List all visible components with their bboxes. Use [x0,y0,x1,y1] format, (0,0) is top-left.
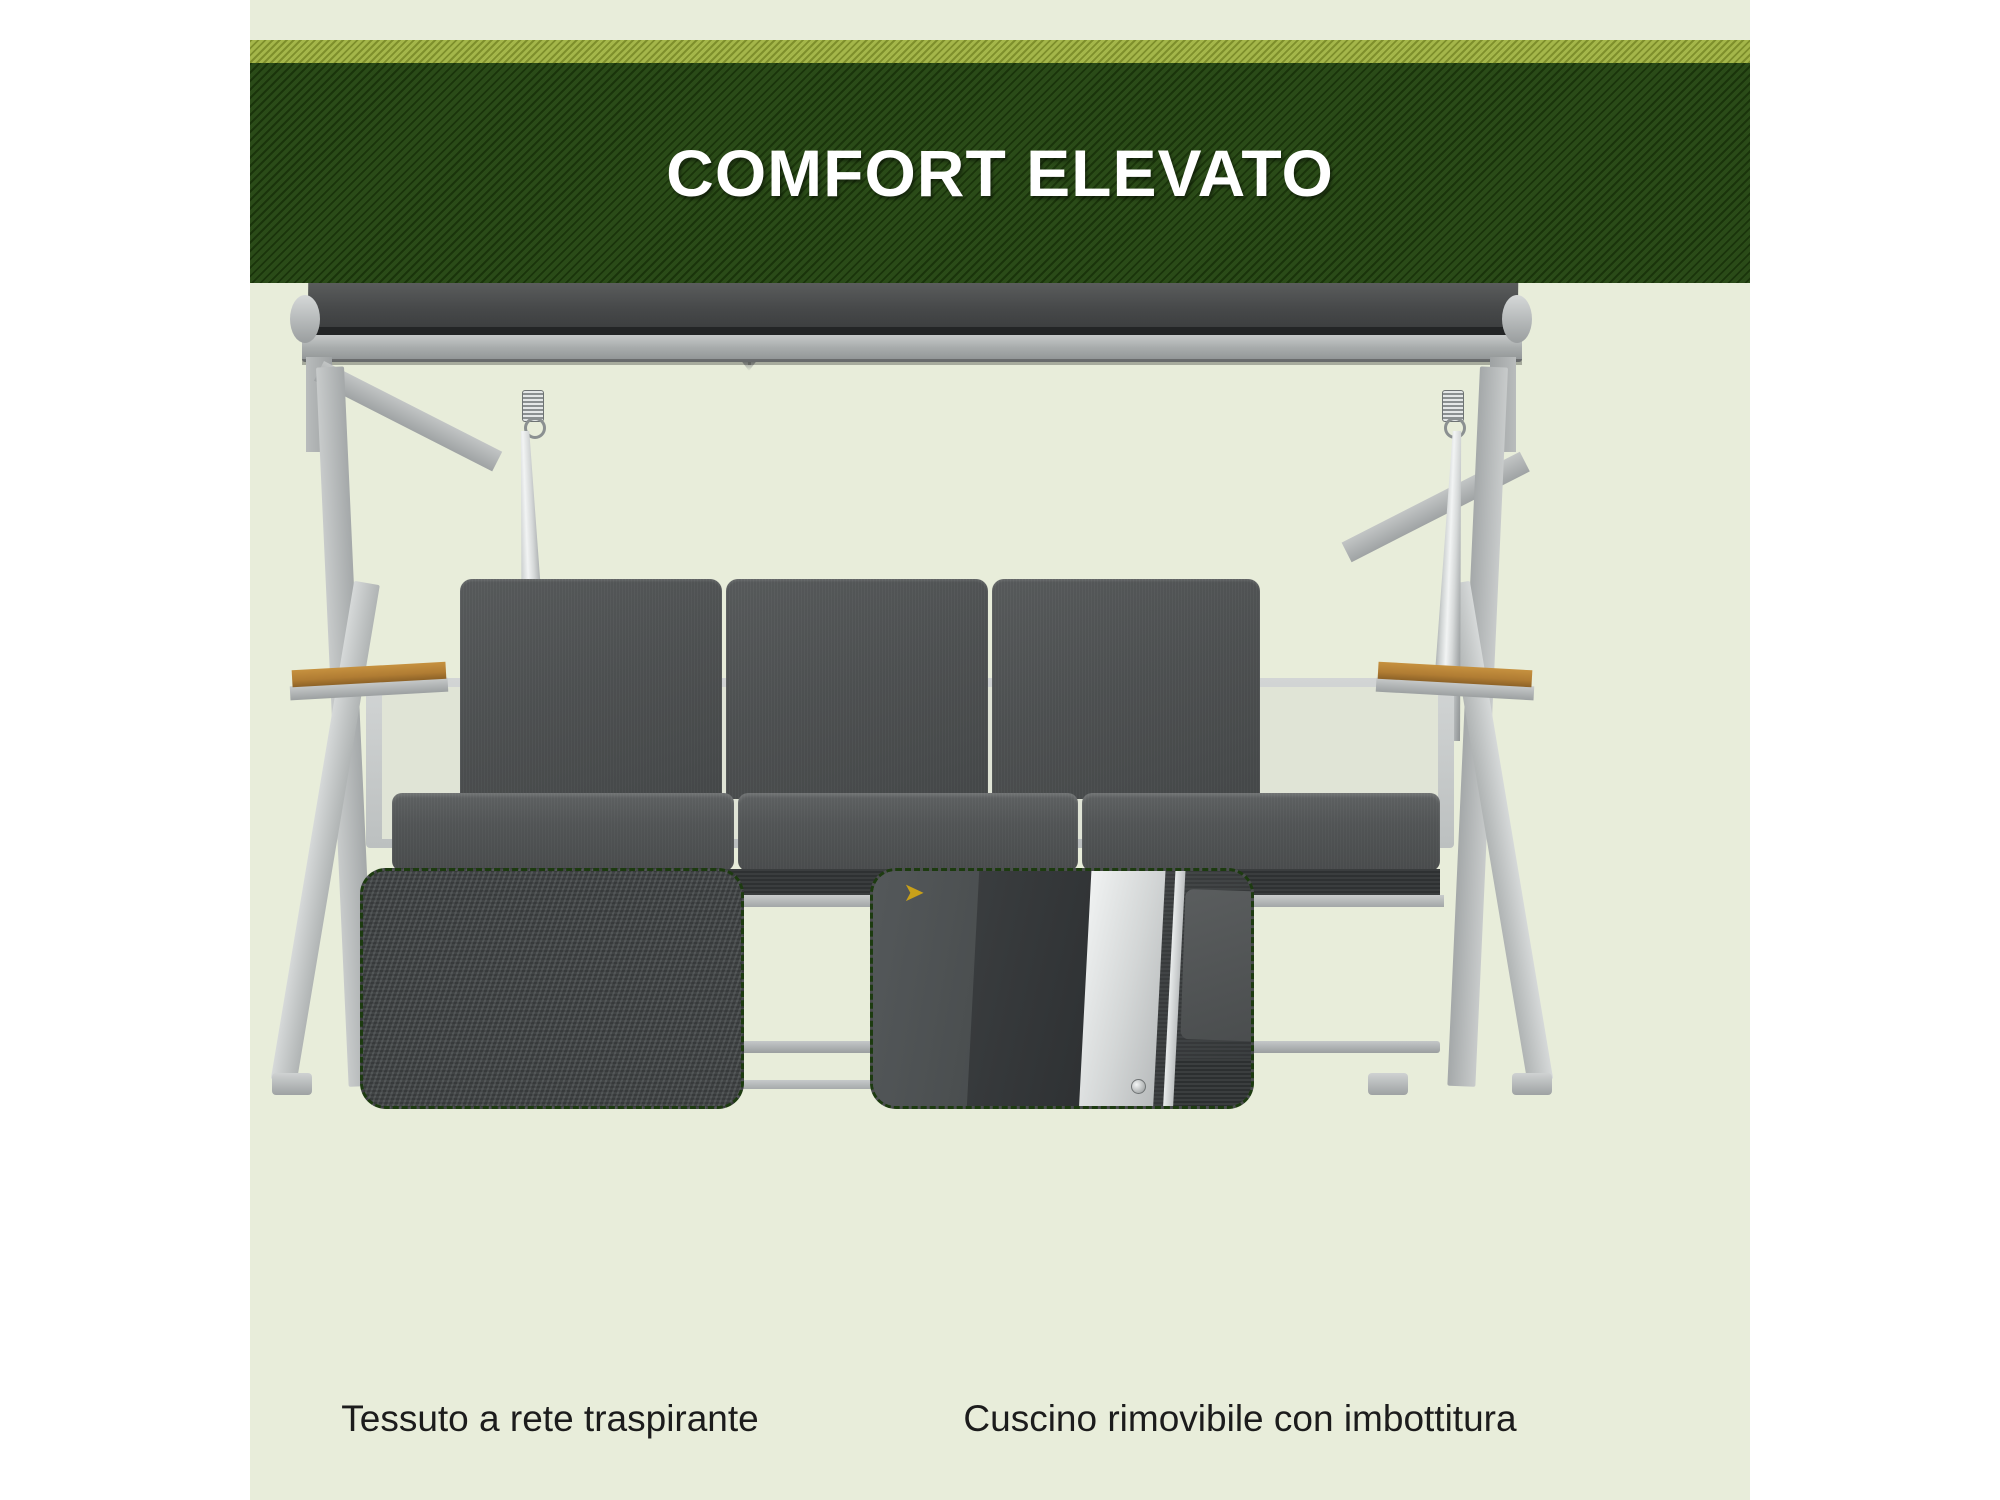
callout-removable-cushion: ➤ [870,868,1254,1109]
back-cushion [460,579,722,799]
cushion-photo-mesh [1173,1059,1254,1107]
product-feature-image: COMFORT ELEVATO [0,0,2000,1500]
back-cushion [992,579,1260,799]
canopy-rail-shadow [302,359,1522,365]
seat-cushion [1082,793,1440,871]
caption-removable-cushion: Cuscino rimovibile con imbottitura [790,1398,1690,1440]
content-panel: COMFORT ELEVATO [250,0,1750,1500]
callout-mesh-fabric [360,868,744,1109]
canopy-support-rail [302,335,1522,362]
product-illustration: ➤ Tessuto a rete traspirante Cuscino rim… [250,283,1750,1500]
banner-title: COMFORT ELEVATO [250,63,1750,283]
caption-mesh-fabric: Tessuto a rete traspirante [310,1398,790,1440]
cushion-photo-cushion [1180,889,1254,1043]
cushion-photo-screw [1131,1079,1146,1094]
cushion-photo-frame-bar [1078,868,1165,1109]
frame-foot-right-back [1368,1073,1408,1095]
pull-arrow-icon: ➤ [903,879,929,905]
seat-cushion [392,793,734,871]
frame-foot-right-front [1512,1073,1552,1095]
banner-accent-stripe [250,40,1750,63]
canopy-fabric [308,283,1518,329]
callout-connector-bar [736,1080,872,1089]
canopy-roller-left [290,295,320,343]
frame-foot-left-front [272,1073,312,1095]
canopy-roller-right [1502,295,1532,343]
header-banner: COMFORT ELEVATO [250,40,1750,283]
back-cushion [726,579,988,799]
seat-cushion [738,793,1078,871]
